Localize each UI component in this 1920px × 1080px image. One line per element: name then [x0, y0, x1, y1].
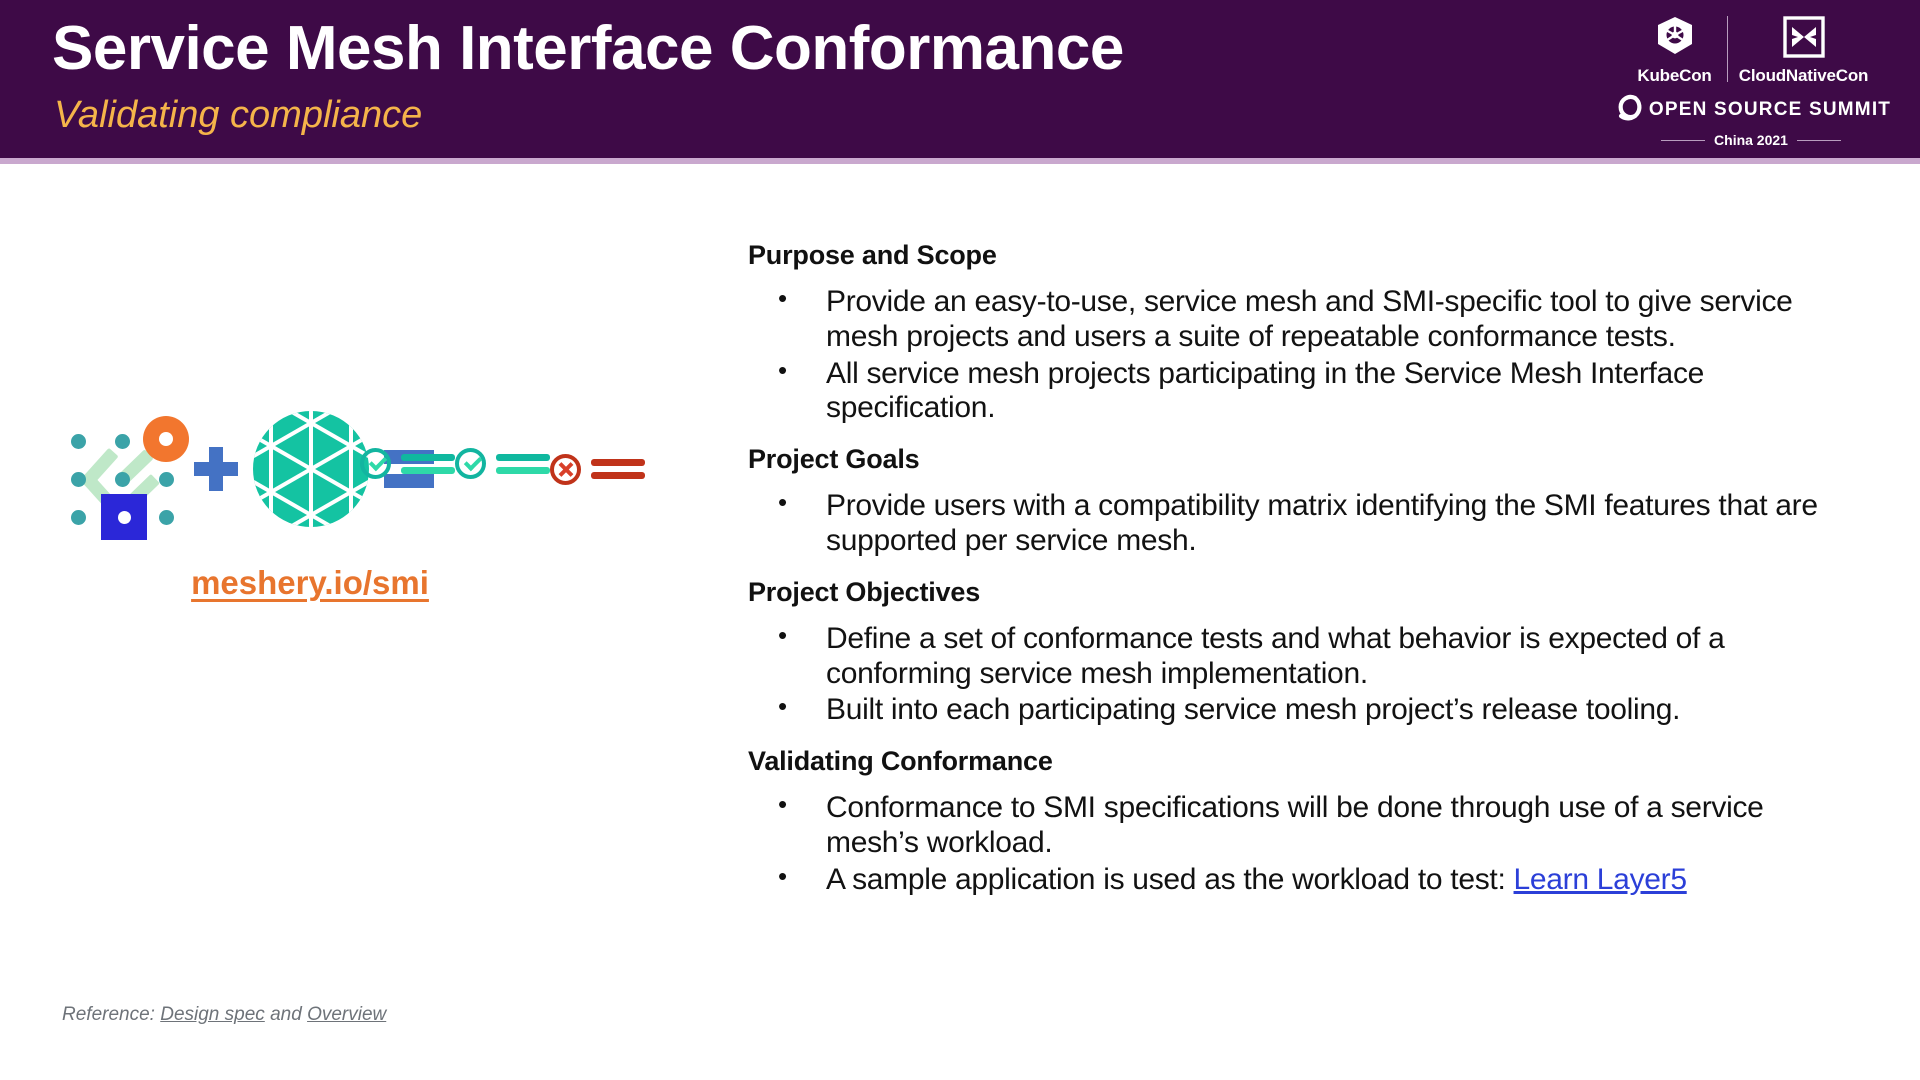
list-item: Define a set of conformance tests and wh… [750, 622, 1838, 692]
smi-node-graph-icon [55, 410, 181, 528]
checklist-row-pass-2 [455, 448, 550, 479]
list-item: Provide an easy-to-use, service mesh and… [750, 285, 1838, 355]
overview-link[interactable]: Overview [307, 1004, 386, 1025]
page-subtitle: Validating compliance [54, 94, 422, 137]
design-spec-link[interactable]: Design spec [160, 1004, 265, 1025]
content-panel: Purpose and Scope Provide an easy-to-use… [748, 240, 1838, 900]
list-item-text: A sample application is used as the work… [826, 863, 1514, 896]
list-item: A sample application is used as the work… [750, 863, 1838, 898]
section-heading: Project Goals [748, 444, 1838, 475]
left-illustration-panel: meshery.io/smi Reference: Design spec an… [0, 164, 740, 1080]
section-purpose-and-scope: Purpose and Scope Provide an easy-to-use… [748, 240, 1838, 426]
check-circle-icon [360, 448, 391, 479]
section-heading: Project Objectives [748, 577, 1838, 608]
open-source-s-icon [1611, 90, 1645, 129]
checklist-row-fail [550, 454, 645, 485]
section-validating-conformance: Validating Conformance Conformance to SM… [748, 746, 1838, 897]
open-source-summit-label: OPEN SOURCE SUMMIT [1649, 99, 1891, 121]
bullet-list: Define a set of conformance tests and wh… [750, 622, 1838, 728]
reference-conjunction: and [270, 1004, 302, 1025]
meshery-smi-link[interactable]: meshery.io/smi [0, 564, 620, 602]
service-mesh-sphere-icon [251, 409, 371, 529]
check-circle-icon [455, 448, 486, 479]
bullet-list: Provide an easy-to-use, service mesh and… [750, 285, 1838, 426]
list-item: Provide users with a compatibility matri… [750, 489, 1838, 559]
conformance-checklist-icon [447, 448, 557, 490]
cloudnativecon-label: CloudNativeCon [1739, 66, 1868, 86]
conference-logo: KubeCon CloudNativeCon OPEN SOURCE SUMMI… [1626, 8, 1876, 148]
kubecon-label: KubeCon [1637, 66, 1711, 86]
list-item: Conformance to SMI specifications will b… [750, 791, 1838, 861]
reference-footnote: Reference: Design spec and Overview [62, 1004, 386, 1026]
section-project-objectives: Project Objectives Define a set of confo… [748, 577, 1838, 728]
cloudnativecon-logo: CloudNativeCon [1734, 12, 1874, 86]
checklist-row-pass-1 [360, 448, 455, 479]
kubernetes-helm-icon [1652, 12, 1698, 62]
bullet-list: Conformance to SMI specifications will b… [750, 791, 1838, 897]
cncf-square-icon [1782, 12, 1826, 62]
kubecon-logo: KubeCon [1629, 12, 1721, 86]
page-title: Service Mesh Interface Conformance [52, 16, 1124, 81]
reference-prefix: Reference: [62, 1004, 155, 1025]
plus-operator [181, 447, 251, 491]
section-heading: Purpose and Scope [748, 240, 1838, 271]
conference-year-label: China 2021 [1714, 132, 1788, 148]
year-rule-left [1661, 140, 1705, 141]
list-item: All service mesh projects participating … [750, 357, 1838, 427]
section-project-goals: Project Goals Provide users with a compa… [748, 444, 1838, 559]
cross-circle-icon [550, 454, 581, 485]
learn-layer5-link[interactable]: Learn Layer5 [1514, 863, 1687, 896]
conformance-equation-graphic [55, 399, 675, 539]
section-heading: Validating Conformance [748, 746, 1838, 777]
year-rule-right [1797, 140, 1841, 141]
list-item: Built into each participating service me… [750, 693, 1838, 728]
logo-divider [1727, 16, 1728, 82]
bullet-list: Provide users with a compatibility matri… [750, 489, 1838, 559]
